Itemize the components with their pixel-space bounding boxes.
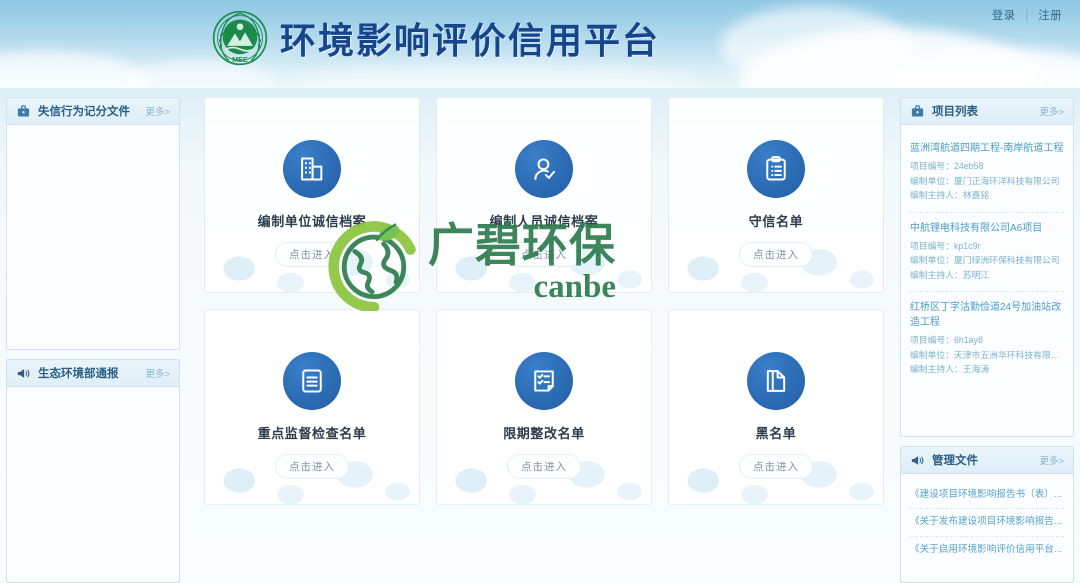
panel-body: 《建设项目环境影响报告书（表）... 《关于发布建设项目环境影响报告... 《关… xyxy=(901,474,1073,571)
panel-more-link[interactable]: 更多> xyxy=(1039,453,1064,467)
card-label: 限期整改名单 xyxy=(503,423,585,442)
panel-body: 蓝洲湾航道四期工程-南岸航道工程 项目编号：24eb58 编制单位：厦门正海环洋… xyxy=(901,125,1073,394)
brand-block: MEE 环境影响评价信用平台 xyxy=(212,10,660,66)
panel-more-link[interactable]: 更多> xyxy=(145,366,170,380)
card-key-supervision-inspection-list[interactable]: 重点监督检查名单 点击进入 xyxy=(204,309,420,505)
card-enter-button[interactable]: 点击进入 xyxy=(739,242,813,267)
document-link[interactable]: 《关于发布建设项目环境影响报告... xyxy=(910,509,1064,536)
briefcase-icon xyxy=(16,104,31,119)
panel-more-link[interactable]: 更多> xyxy=(1039,104,1064,118)
cloud-decoration xyxy=(280,66,700,88)
project-unit: 编制单位：厦门正海环洋科技有限公司 xyxy=(910,174,1064,189)
project-list-item[interactable]: 中航锂电科技有限公司A6项目 项目编号：kp1c9r 编制单位：厦门绿洲环保科技… xyxy=(910,213,1064,293)
project-host: 编制主持人：林嘉铭 xyxy=(910,188,1064,203)
card-trustworthy-list[interactable]: 守信名单 点击进入 xyxy=(668,97,884,293)
main-content: 编制单位诚信档案 点击进入 编制人员诚信档案 点击进入 xyxy=(180,97,900,583)
project-name[interactable]: 中航锂电科技有限公司A6项目 xyxy=(910,221,1064,236)
right-sidebar: 项目列表 更多> 蓝洲湾航道四期工程-南岸航道工程 项目编号：24eb58 编制… xyxy=(900,97,1074,583)
card-label: 黑名单 xyxy=(756,423,797,442)
project-list-item[interactable]: 红桥区丁字沽勤俭道24号加油站改造工程 项目编号：6h1ay8 编制单位：天津市… xyxy=(910,292,1064,386)
document-link[interactable]: 《建设项目环境影响报告书（表）... xyxy=(910,482,1064,509)
megaphone-icon xyxy=(910,453,925,468)
card-compiling-unit-credit-archive[interactable]: 编制单位诚信档案 点击进入 xyxy=(204,97,420,293)
login-link[interactable]: 登录 xyxy=(992,10,1016,22)
project-host: 编制主持人：王海涛 xyxy=(910,362,1064,377)
entry-card-grid: 编制单位诚信档案 点击进入 编制人员诚信档案 点击进入 xyxy=(204,97,884,505)
panel-header: 生态环境部通报 更多> xyxy=(7,360,179,387)
card-enter-button[interactable]: 点击进入 xyxy=(275,242,349,267)
site-header: 登录 | 注册 MEE 环境影响评价信用平台 xyxy=(0,0,1080,88)
card-label: 编制单位诚信档案 xyxy=(258,211,367,230)
left-sidebar: 失信行为记分文件 更多> 生态环境部通报 更多> xyxy=(6,97,180,583)
panel-title: 生态环境部通报 xyxy=(38,365,119,381)
auth-separator: | xyxy=(1025,10,1028,22)
document-lines-icon xyxy=(283,352,341,410)
panel-body xyxy=(7,387,179,403)
card-label: 守信名单 xyxy=(749,211,803,230)
panel-title: 管理文件 xyxy=(932,452,978,468)
card-enter-button[interactable]: 点击进入 xyxy=(507,242,581,267)
card-enter-button[interactable]: 点击进入 xyxy=(739,454,813,479)
project-host: 编制主持人：苏明江 xyxy=(910,268,1064,283)
card-label: 编制人员诚信档案 xyxy=(490,211,599,230)
mee-emblem-icon: MEE xyxy=(212,10,268,66)
clipboard-list-icon xyxy=(747,140,805,198)
card-enter-button[interactable]: 点击进入 xyxy=(275,454,349,479)
panel-mee-bulletin: 生态环境部通报 更多> xyxy=(6,359,180,583)
panel-project-list: 项目列表 更多> 蓝洲湾航道四期工程-南岸航道工程 项目编号：24eb58 编制… xyxy=(900,97,1074,437)
building-icon xyxy=(283,140,341,198)
project-list-item[interactable]: 蓝洲湾航道四期工程-南岸航道工程 项目编号：24eb58 编制单位：厦门正海环洋… xyxy=(910,133,1064,213)
checklist-edit-icon xyxy=(515,352,573,410)
card-rectification-deadline-list[interactable]: 限期整改名单 点击进入 xyxy=(436,309,652,505)
document-torn-icon xyxy=(747,352,805,410)
panel-credit-score-files: 失信行为记分文件 更多> xyxy=(6,97,180,350)
register-link[interactable]: 注册 xyxy=(1038,10,1062,22)
project-name[interactable]: 蓝洲湾航道四期工程-南岸航道工程 xyxy=(910,141,1064,156)
panel-header: 管理文件 更多> xyxy=(901,447,1073,474)
mee-emblem-text: MEE xyxy=(232,55,248,64)
panel-title: 项目列表 xyxy=(932,103,978,119)
project-unit: 编制单位：天津市五洲华环科技有限公司 xyxy=(910,348,1064,363)
megaphone-icon xyxy=(16,366,31,381)
project-code: 项目编号：kp1c9r xyxy=(910,239,1064,254)
page-body: 失信行为记分文件 更多> 生态环境部通报 更多> xyxy=(0,88,1080,583)
document-link[interactable]: 《关于启用环境影响评价信用平台... xyxy=(910,537,1064,563)
project-name[interactable]: 红桥区丁字沽勤俭道24号加油站改造工程 xyxy=(910,300,1064,330)
auth-bar: 登录 | 注册 xyxy=(992,7,1062,23)
panel-body xyxy=(7,125,179,141)
user-check-icon xyxy=(515,140,573,198)
project-code: 项目编号：24eb58 xyxy=(910,159,1064,174)
panel-header: 项目列表 更多> xyxy=(901,98,1073,125)
card-label: 重点监督检查名单 xyxy=(258,423,367,442)
project-unit: 编制单位：厦门绿洲环保科技有限公司 xyxy=(910,253,1064,268)
card-compiling-personnel-credit-archive[interactable]: 编制人员诚信档案 点击进入 xyxy=(436,97,652,293)
panel-title: 失信行为记分文件 xyxy=(38,103,130,119)
card-blacklist[interactable]: 黑名单 点击进入 xyxy=(668,309,884,505)
card-enter-button[interactable]: 点击进入 xyxy=(507,454,581,479)
briefcase-icon xyxy=(910,104,925,119)
panel-header: 失信行为记分文件 更多> xyxy=(7,98,179,125)
page-title: 环境影响评价信用平台 xyxy=(280,12,660,64)
panel-admin-documents: 管理文件 更多> 《建设项目环境影响报告书（表）... 《关于发布建设项目环境影… xyxy=(900,446,1074,583)
panel-more-link[interactable]: 更多> xyxy=(145,104,170,118)
project-code: 项目编号：6h1ay8 xyxy=(910,333,1064,348)
